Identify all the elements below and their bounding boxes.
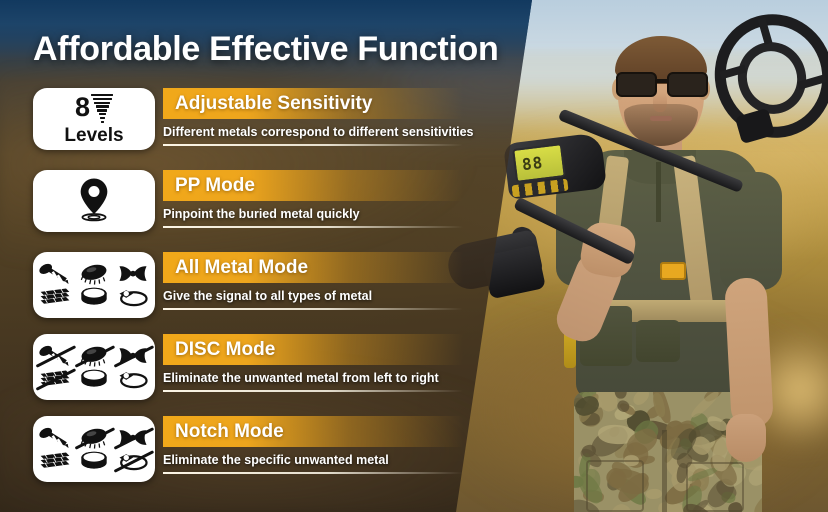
target-bottle-cap-icon [77, 263, 111, 285]
target-bottle-cap-icon [77, 427, 111, 449]
all-metal-targets-icon [38, 263, 150, 308]
feature-description: Give the signal to all types of metal [163, 289, 372, 303]
target-coin-icon [77, 450, 111, 472]
levels-number: 8 [75, 94, 89, 121]
pinpoint-location-icon [70, 175, 118, 228]
target-foil-icon [38, 450, 72, 472]
feature-title: PP Mode [175, 175, 255, 197]
target-pull-tab-icon [116, 427, 150, 449]
lcd-value: 88 [521, 153, 544, 174]
levels-label: Levels [64, 126, 123, 145]
target-ring-icon [116, 286, 150, 308]
feature-description: Different metals correspond to different… [163, 125, 474, 139]
feature-title-bar: Adjustable Sensitivity [163, 88, 463, 119]
signal-bars-icon [91, 94, 113, 123]
feature-title-bar: DISC Mode [163, 334, 463, 365]
levels-number-row: 8 [75, 93, 113, 123]
feature-icon-card [33, 416, 155, 482]
feature-title: Notch Mode [175, 421, 284, 443]
target-coin-icon [77, 286, 111, 308]
feature-underline [163, 472, 463, 474]
feature-underline [163, 390, 463, 392]
feature-underline [163, 226, 463, 228]
feature-description: Pinpoint the buried metal quickly [163, 207, 360, 221]
feature-row: 8LevelsAdjustable SensitivityDifferent m… [0, 84, 500, 166]
feature-title-bar: PP Mode [163, 170, 463, 201]
feature-title: DISC Mode [175, 339, 275, 361]
target-nail-icon [38, 427, 72, 449]
cargo-pocket-left [586, 460, 644, 512]
feature-title: All Metal Mode [175, 257, 308, 279]
feature-description: Eliminate the unwanted metal from left t… [163, 371, 439, 385]
cargo-pocket-right [686, 462, 744, 512]
feature-row: DISC ModeEliminate the unwanted metal fr… [0, 330, 500, 412]
feature-underline [163, 308, 463, 310]
target-nail-icon [38, 263, 72, 285]
notch-rejected-targets-icon [38, 427, 150, 472]
target-ring-icon [116, 368, 150, 390]
feature-icon-card [33, 252, 155, 318]
target-coin-icon [77, 368, 111, 390]
target-foil-icon [38, 368, 72, 390]
target-pull-tab-icon [116, 263, 150, 285]
disc-rejected-targets-icon [38, 345, 150, 390]
page-title: Affordable Effective Function [33, 30, 498, 69]
pants-seam [662, 430, 667, 512]
feature-row: Notch ModeEliminate the specific unwante… [0, 412, 500, 494]
target-pull-tab-icon [116, 345, 150, 367]
feature-icon-card: 8Levels [33, 88, 155, 150]
promo-banner: 88 Affordable Effective Function 8Levels… [0, 0, 828, 512]
sensitivity-levels-icon: 8Levels [64, 93, 123, 145]
feature-title: Adjustable Sensitivity [175, 93, 372, 115]
target-nail-icon [38, 345, 72, 367]
target-bottle-cap-icon [77, 345, 111, 367]
target-ring-icon [116, 450, 150, 472]
feature-icon-card [33, 334, 155, 400]
feature-title-bar: All Metal Mode [163, 252, 463, 283]
feature-underline [163, 144, 463, 146]
feature-row: All Metal ModeGive the signal to all typ… [0, 248, 500, 330]
target-foil-icon [38, 286, 72, 308]
feature-description: Eliminate the specific unwanted metal [163, 453, 389, 467]
feature-icon-card [33, 170, 155, 232]
feature-row: PP ModePinpoint the buried metal quickly [0, 166, 500, 248]
feature-title-bar: Notch Mode [163, 416, 463, 447]
feature-list: 8LevelsAdjustable SensitivityDifferent m… [0, 84, 500, 494]
